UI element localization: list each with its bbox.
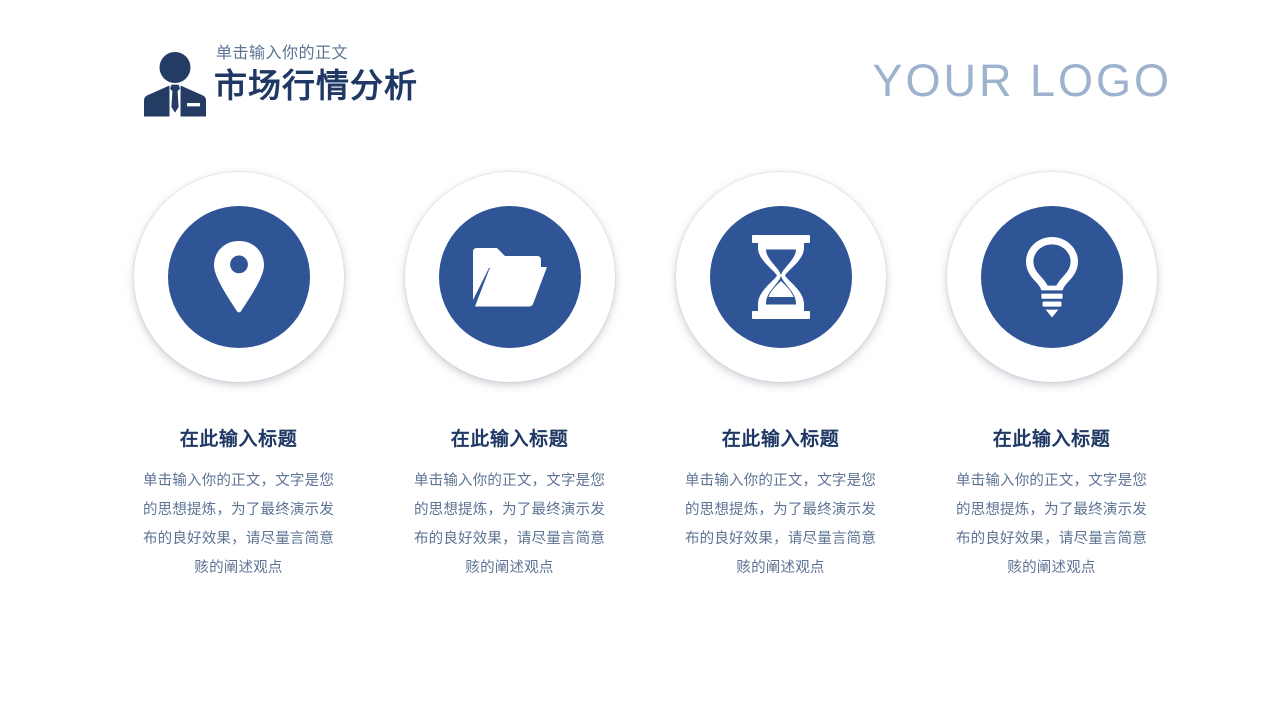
- card-title: 在此输入标题: [451, 424, 569, 451]
- icon-disc: [981, 206, 1123, 348]
- feature-cards-row: 在此输入标题 单击输入你的正文，文字是您的思想提炼，为了最终演示发布的良好效果，…: [130, 172, 1160, 583]
- card-body-text: 单击输入你的正文，文字是您的思想提炼，为了最终演示发布的良好效果，请尽量言简意赅…: [678, 467, 883, 583]
- card-body-text: 单击输入你的正文，文字是您的思想提炼，为了最终演示发布的良好效果，请尽量言简意赅…: [407, 467, 612, 583]
- location-pin-icon: [206, 239, 272, 315]
- card-title: 在此输入标题: [993, 424, 1111, 451]
- icon-ring[interactable]: [676, 172, 886, 382]
- header-subtitle: 单击输入你的正文: [214, 44, 348, 63]
- businessman-icon: [142, 50, 208, 118]
- slide-canvas: 单击输入你的正文 市场行情分析 YOUR LOGO 在此输入标题 单击输入你的正…: [0, 0, 1280, 720]
- feature-card[interactable]: 在此输入标题 单击输入你的正文，文字是您的思想提炼，为了最终演示发布的良好效果，…: [943, 172, 1160, 583]
- slide-header: 单击输入你的正文 市场行情分析 YOUR LOGO: [0, 0, 1280, 140]
- hourglass-icon: [750, 234, 812, 320]
- icon-disc: [710, 206, 852, 348]
- feature-card[interactable]: 在此输入标题 单击输入你的正文，文字是您的思想提炼，为了最终演示发布的良好效果，…: [401, 172, 618, 583]
- card-body-text: 单击输入你的正文，文字是您的思想提炼，为了最终演示发布的良好效果，请尽量言简意赅…: [949, 467, 1154, 583]
- icon-ring[interactable]: [405, 172, 615, 382]
- feature-card[interactable]: 在此输入标题 单击输入你的正文，文字是您的思想提炼，为了最终演示发布的良好效果，…: [130, 172, 347, 583]
- icon-disc: [439, 206, 581, 348]
- card-title: 在此输入标题: [722, 424, 840, 451]
- icon-disc: [168, 206, 310, 348]
- icon-ring[interactable]: [947, 172, 1157, 382]
- header-title-group: 单击输入你的正文 市场行情分析: [142, 44, 418, 118]
- feature-card[interactable]: 在此输入标题 单击输入你的正文，文字是您的思想提炼，为了最终演示发布的良好效果，…: [672, 172, 889, 583]
- lightbulb-icon: [1021, 236, 1083, 318]
- card-body-text: 单击输入你的正文，文字是您的思想提炼，为了最终演示发布的良好效果，请尽量言简意赅…: [136, 467, 341, 583]
- page-title: 市场行情分析: [214, 67, 418, 106]
- header-text-block: 单击输入你的正文 市场行情分析: [214, 44, 418, 106]
- logo-placeholder: YOUR LOGO: [872, 58, 1172, 103]
- open-folder-icon: [471, 246, 549, 308]
- card-title: 在此输入标题: [180, 424, 298, 451]
- icon-ring[interactable]: [134, 172, 344, 382]
